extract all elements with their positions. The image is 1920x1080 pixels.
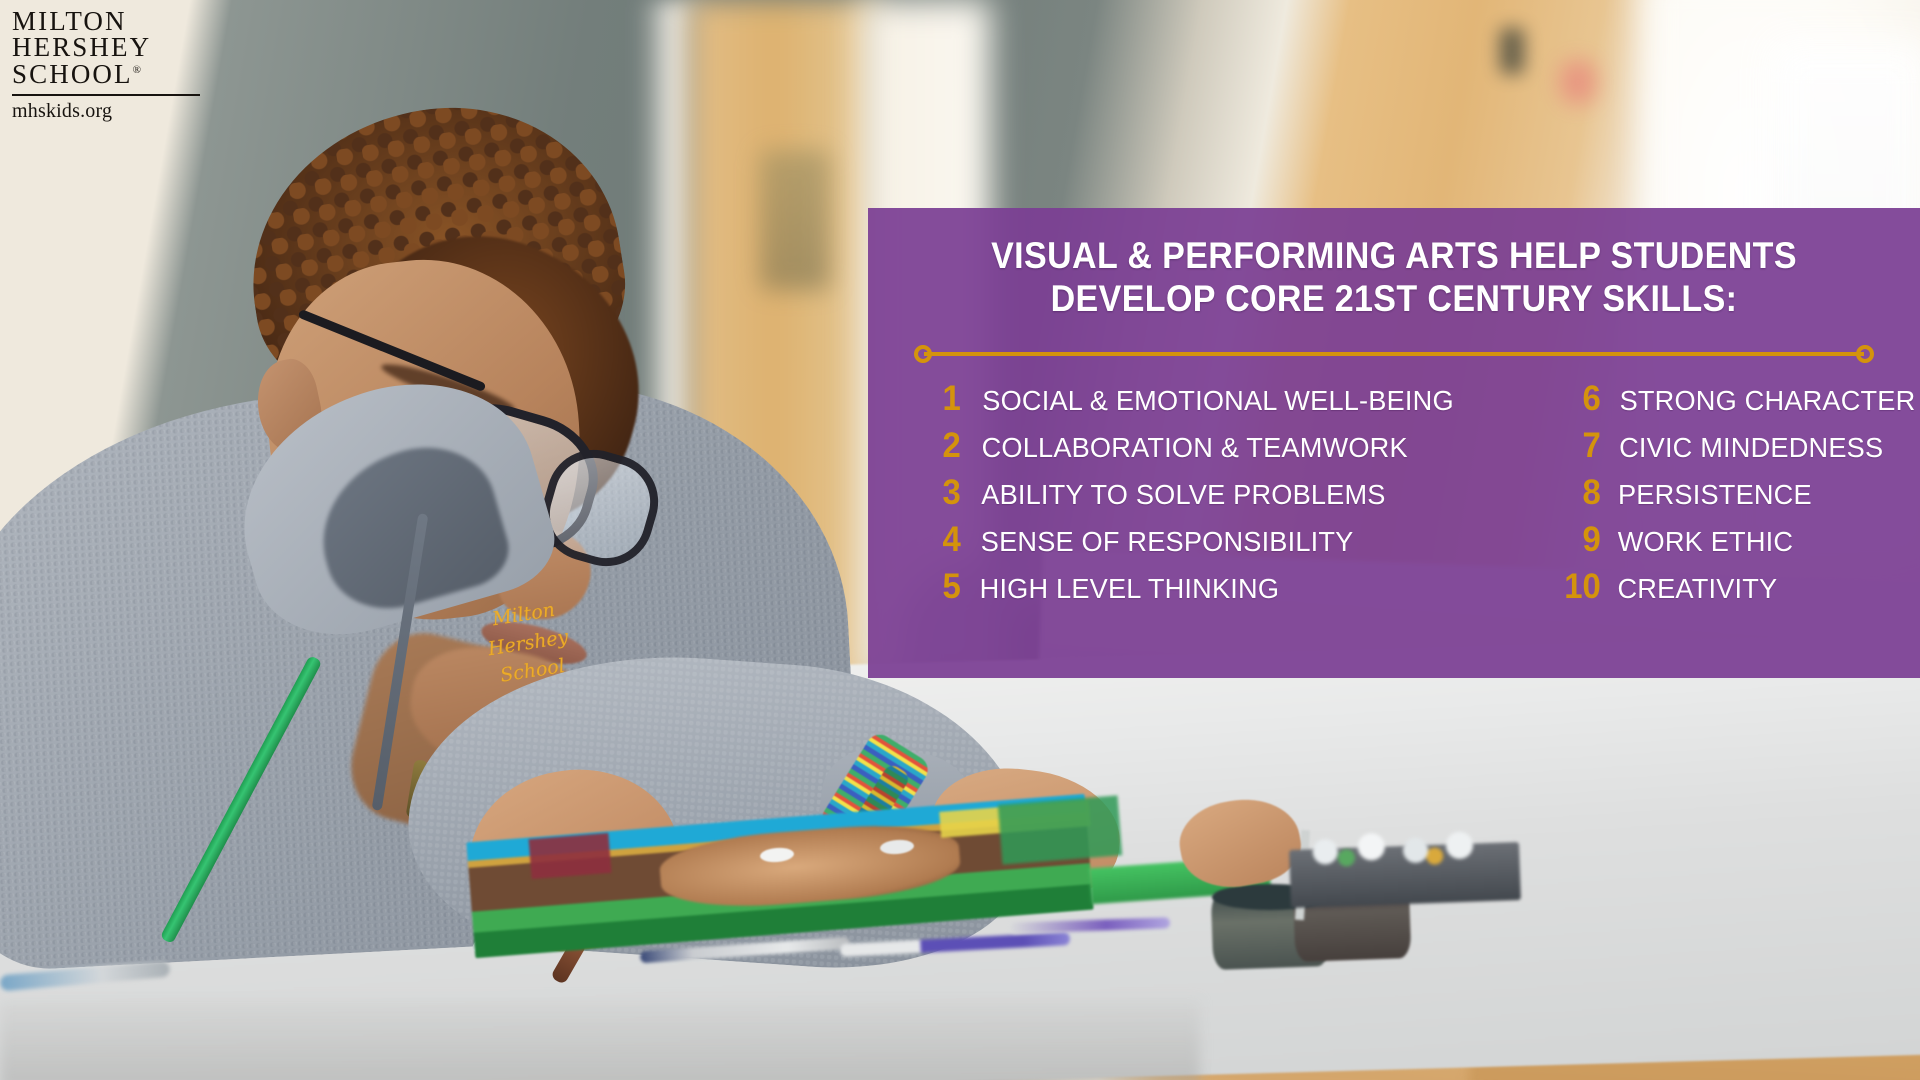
skill-number: 5 xyxy=(912,569,973,604)
skill-number: 4 xyxy=(912,522,973,557)
divider-bar xyxy=(924,352,1864,356)
registered-trademark-icon: ® xyxy=(133,64,141,76)
skill-number: 10 xyxy=(1552,569,1613,604)
infographic-canvas: Milton Hershey School xyxy=(0,0,1920,1080)
skill-label: STRONG CHARACTER xyxy=(1620,387,1916,415)
skill-number: 9 xyxy=(1552,522,1613,557)
logo-website-url[interactable]: mhskids.org xyxy=(12,100,212,123)
panel-title-line-1: VISUAL & PERFORMING ARTS HELP STUDENTS xyxy=(934,234,1854,277)
skill-item: 9 WORK ETHIC xyxy=(1550,522,1920,569)
logo-divider-rule xyxy=(12,94,200,96)
school-logo[interactable]: MILTON HERSHEY SCHOOL® mhskids.org xyxy=(12,8,212,123)
skill-item: 2 COLLABORATION & TEAMWORK xyxy=(910,428,1550,475)
skill-item: 4 SENSE OF RESPONSIBILITY xyxy=(910,522,1550,569)
skill-label: PERSISTENCE xyxy=(1618,481,1812,509)
canvas-red-area xyxy=(529,833,612,879)
panel-title-line-2: DEVELOP CORE 21ST CENTURY SKILLS: xyxy=(934,277,1854,320)
skill-label: SENSE OF RESPONSIBILITY xyxy=(981,528,1354,556)
gold-divider xyxy=(914,345,1874,363)
wall-accent-red xyxy=(1560,60,1596,104)
skill-number: 8 xyxy=(1552,475,1613,510)
skill-label: CREATIVITY xyxy=(1617,575,1777,603)
skill-item: 3 ABILITY TO SOLVE PROBLEMS xyxy=(910,475,1550,522)
logo-line-milton: MILTON xyxy=(12,8,212,34)
skill-label: WORK ETHIC xyxy=(1618,528,1793,556)
skills-column-left: 1 SOCIAL & EMOTIONAL WELL-BEING 2 COLLAB… xyxy=(910,381,1550,616)
skill-item: 6 STRONG CHARACTER xyxy=(1550,381,1920,428)
skill-item: 8 PERSISTENCE xyxy=(1550,475,1920,522)
skill-number: 2 xyxy=(912,428,973,463)
floor-shadow xyxy=(0,1000,1200,1080)
skill-label: SOCIAL & EMOTIONAL WELL-BEING xyxy=(982,387,1453,415)
skill-number: 1 xyxy=(912,381,973,416)
skill-item: 7 CIVIC MINDEDNESS xyxy=(1550,428,1920,475)
logo-line-hershey: HERSHEY xyxy=(12,34,212,60)
skill-label: CIVIC MINDEDNESS xyxy=(1619,434,1883,462)
skills-columns: 1 SOCIAL & EMOTIONAL WELL-BEING 2 COLLAB… xyxy=(894,381,1894,616)
skill-number: 3 xyxy=(912,475,973,510)
skills-column-right: 6 STRONG CHARACTER 7 CIVIC MINDEDNESS 8 … xyxy=(1550,381,1920,616)
skill-item: 5 HIGH LEVEL THINKING xyxy=(910,569,1550,616)
logo-school-text: SCHOOL xyxy=(12,59,133,89)
skill-label: HIGH LEVEL THINKING xyxy=(980,575,1280,603)
skills-panel: VISUAL & PERFORMING ARTS HELP STUDENTS D… xyxy=(868,208,1920,678)
wall-fixture xyxy=(1500,28,1524,74)
logo-line-school: SCHOOL® xyxy=(12,61,212,87)
skill-number: 7 xyxy=(1552,428,1613,463)
skill-number: 6 xyxy=(1552,381,1613,416)
skill-label: ABILITY TO SOLVE PROBLEMS xyxy=(981,481,1385,509)
skill-label: COLLABORATION & TEAMWORK xyxy=(982,434,1408,462)
panel-title: VISUAL & PERFORMING ARTS HELP STUDENTS D… xyxy=(934,234,1854,321)
skill-item: 1 SOCIAL & EMOTIONAL WELL-BEING xyxy=(910,381,1550,428)
divider-circle-right-icon xyxy=(1856,345,1874,363)
canvas-green-area xyxy=(998,795,1122,864)
skill-item: 10 CREATIVITY xyxy=(1550,569,1920,616)
